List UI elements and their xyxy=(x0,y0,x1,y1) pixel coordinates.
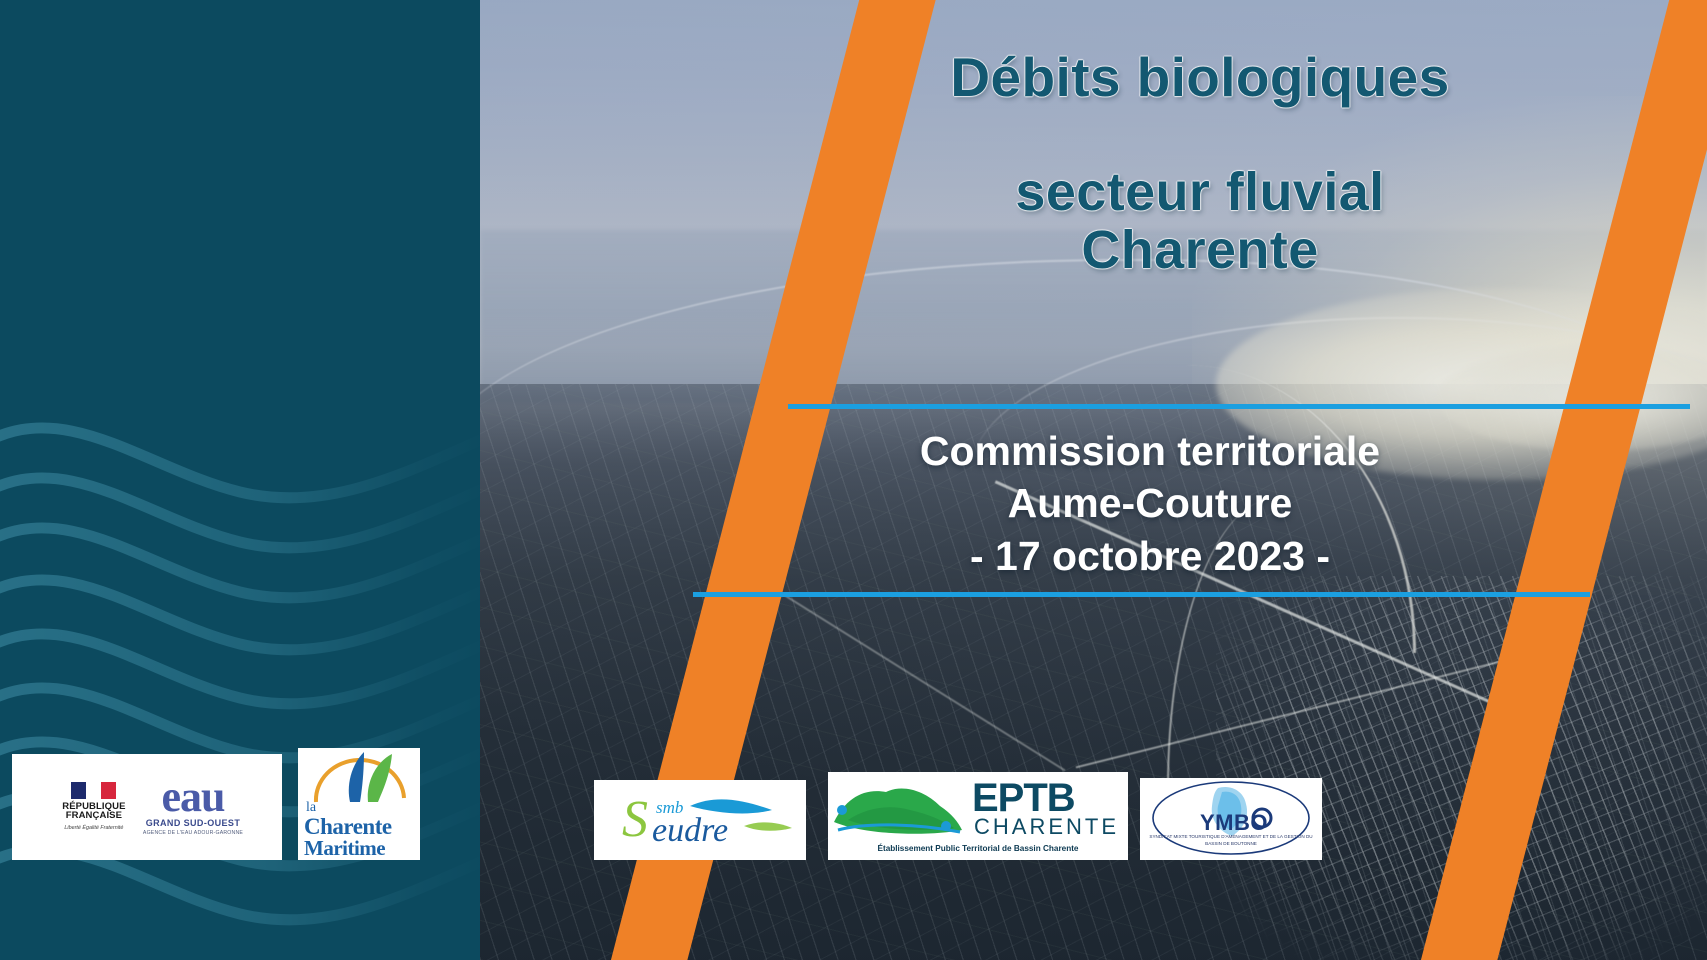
french-flag-icon xyxy=(71,782,116,799)
republique-label-line2: FRANÇAISE xyxy=(66,811,122,821)
title-line-3: Charente xyxy=(820,222,1580,279)
title-line-2: secteur fluvial xyxy=(820,164,1580,221)
logo-agence-eau-adour-garonne: RÉPUBLIQUE FRANÇAISE Liberté Égalité Fra… xyxy=(12,754,282,860)
eau-wordmark: eau xyxy=(162,778,225,817)
logo-eptb-charente: EPTB CHARENTE Établissement Public Terri… xyxy=(828,772,1128,860)
title-line-1: Débits biologiques xyxy=(820,48,1580,106)
seudre-initial: S xyxy=(622,794,648,846)
presentation-slide: Débits biologiques secteur fluvial Chare… xyxy=(0,0,1707,960)
eau-region-label: GRAND SUD-OUEST xyxy=(146,818,241,828)
republique-motto: Liberté Égalité Fraternité xyxy=(64,824,123,832)
charente-maritime-line3: Maritime xyxy=(304,836,385,860)
logo-charente-maritime: la Charente Maritime xyxy=(298,748,420,860)
eptb-full-name: Établissement Public Territorial de Bass… xyxy=(830,844,1126,853)
slide-title: Débits biologiques secteur fluvial Chare… xyxy=(820,48,1580,279)
eau-wordmark-block: eau GRAND SUD-OUEST AGENCE DE L'EAU ADOU… xyxy=(143,778,243,836)
subtitle-line-3: - 17 octobre 2023 - xyxy=(700,530,1600,582)
ymbo-full-name: SYNDICAT MIXTE TOURISTIQUE D'AMÉNAGEMENT… xyxy=(1148,834,1314,848)
ymbo-acronym: YMBO xyxy=(1200,810,1268,836)
seudre-name: eudre xyxy=(652,814,728,848)
rule-above-subtitle xyxy=(788,404,1690,409)
charente-maritime-sails-icon xyxy=(298,748,420,806)
logo-ymbo: YMBO SYNDICAT MIXTE TOURISTIQUE D'AMÉNAG… xyxy=(1140,778,1322,860)
slide-subtitle: Commission territoriale Aume-Couture - 1… xyxy=(700,425,1600,582)
eau-agency-label: AGENCE DE L'EAU ADOUR-GARONNE xyxy=(143,830,243,836)
title-spacer xyxy=(820,106,1580,164)
eptb-basin-icon xyxy=(828,772,968,842)
republique-francaise-block: RÉPUBLIQUE FRANÇAISE Liberté Égalité Fra… xyxy=(51,782,137,832)
logo-smb-seudre: S smb eudre xyxy=(594,780,806,860)
eptb-region: CHARENTE xyxy=(974,816,1119,838)
rule-below-subtitle xyxy=(693,592,1590,597)
subtitle-line-2: Aume-Couture xyxy=(700,477,1600,529)
eptb-acronym: EPTB xyxy=(972,778,1075,818)
subtitle-line-1: Commission territoriale xyxy=(700,425,1600,477)
